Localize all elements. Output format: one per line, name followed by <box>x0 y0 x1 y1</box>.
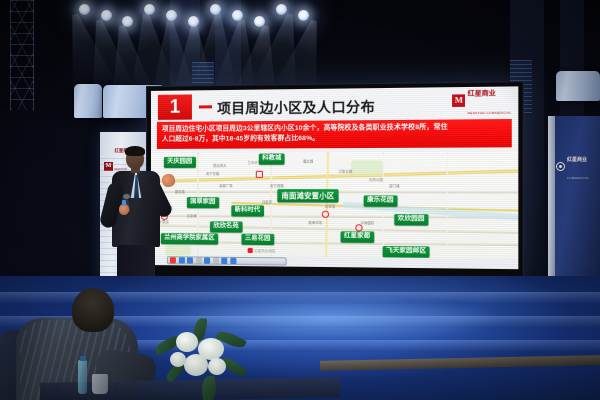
road-vertical-4 <box>447 152 448 259</box>
led-display-screen[interactable]: 1 项目周边小区及人口分布 M 红星商业 REDSTAR COMMERCIAL … <box>146 81 524 283</box>
panel-edge-right <box>548 116 555 278</box>
slide-title: 项目周边小区及人口分布 <box>217 95 375 117</box>
settings-icon[interactable] <box>230 258 236 264</box>
map-street-label: 安宁东路 <box>206 171 219 176</box>
browser-icon[interactable] <box>204 258 210 264</box>
slide-number-badge: 1 <box>158 94 192 119</box>
presentation-slide: 1 项目周边小区及人口分布 M 红星商业 REDSTAR COMMERCIAL … <box>151 86 518 269</box>
map-street-label: 费家营 <box>325 204 335 209</box>
title-dash-decoration <box>199 105 212 108</box>
slide-brand-logo: M 红星商业 REDSTAR COMMERCIAL <box>452 93 511 107</box>
slide-brand-name: 红星商业 <box>468 89 496 97</box>
presenter-hair <box>125 146 145 156</box>
presenter-right-hand <box>160 172 176 188</box>
brand-side-panel-right: 红星商业 COMMERCIAL <box>548 116 600 278</box>
brand-name-right: 红星商业 <box>567 157 587 163</box>
map-street-label: 中海国际 <box>361 220 375 225</box>
brand-ring-icon <box>556 162 565 171</box>
desktop-taskbar[interactable] <box>167 256 287 265</box>
map-community-label[interactable]: 欢欣园园 <box>394 214 428 226</box>
map-street-label: 桃海市场 <box>308 220 322 225</box>
lighting-truss <box>10 0 34 110</box>
map-community-label[interactable]: 南面滩安置小区 <box>277 189 338 202</box>
blank-icon[interactable] <box>213 258 219 264</box>
podium-left-a <box>74 84 102 118</box>
map-watermark: 红星商业地图 <box>248 248 275 253</box>
presenter-speaker <box>98 142 182 288</box>
microphone-head-icon <box>123 194 130 199</box>
map-street-label: 安宁西路 <box>270 183 284 188</box>
conference-stage-photo: M 红星商业 REDSTAR COMMERCIAL 1 项目周边小区及人口分布 … <box>0 0 600 400</box>
stage-light-icon <box>79 4 90 15</box>
flower-bloom <box>170 352 186 367</box>
map-poi-marker[interactable] <box>322 211 329 218</box>
music-icon[interactable] <box>187 257 193 263</box>
paper-cup <box>92 374 108 394</box>
map-watermark-text: 红星商业地图 <box>254 248 275 253</box>
green-space-1 <box>351 160 383 174</box>
map-street-label: 孔家崖 <box>187 213 197 218</box>
stage-light-icon <box>101 10 112 21</box>
flower-bloom <box>176 332 198 352</box>
map-street-label: 万新北路 <box>339 169 353 174</box>
map-community-label[interactable]: 三易花园 <box>242 234 274 245</box>
flower-bloom <box>184 354 208 376</box>
map-community-label[interactable]: 飞天家园邮区 <box>383 246 430 258</box>
map-street-label: 刘家堡 <box>262 199 272 204</box>
map-poi-marker[interactable] <box>355 224 362 231</box>
slide-highlight-banner: 项目周边住宅小区项目周边3公里辖区内小区10余个，高等院校及各类职业技术学校8所… <box>157 119 512 149</box>
stage-light-icon <box>298 10 309 21</box>
folder-icon[interactable] <box>195 258 201 264</box>
map-street-label: 长风公园 <box>369 177 383 182</box>
map-community-label[interactable]: 新科时代 <box>231 205 263 216</box>
map-community-labels-layer: 天庆园园科教城南面滩安置小区国翠家园康乐花园新科时代欣欣名苑欢欣园园兰州商学院家… <box>151 152 518 153</box>
watermark-mark-icon <box>248 248 253 253</box>
map-street-label: 迎门滩 <box>389 183 399 188</box>
map-street-label: 培黎广场 <box>219 183 232 188</box>
map-street-label: 西北师大 <box>213 163 226 168</box>
water-bottle <box>78 360 87 394</box>
neighborhood-map[interactable]: 兰州大学雁北路安宁东路万新北路培黎广场安宁西路银安路刘家堡费家营西北师大长风公园… <box>151 152 518 259</box>
map-community-label[interactable]: 欣欣名苑 <box>210 221 242 232</box>
map-community-label[interactable]: 康乐花园 <box>364 195 397 206</box>
presenter-badge <box>122 200 126 206</box>
flower-bloom <box>208 358 226 375</box>
foliage-leaf <box>201 375 218 400</box>
map-community-label[interactable]: 红星家都 <box>341 231 374 243</box>
map-minor-labels-layer: 兰州大学雁北路安宁东路万新北路培黎广场安宁西路银安路刘家堡费家营西北师大长风公园… <box>151 152 518 153</box>
stage-light-icon <box>276 4 287 15</box>
banner-line-2: 人口超过6-8万，其中18-45岁的有效客群占比68%。 <box>162 133 506 145</box>
bottle-cap <box>80 356 86 361</box>
map-community-label[interactable]: 国翠家园 <box>187 197 219 208</box>
brand-mark-icon: M <box>452 94 465 107</box>
map-poi-marker[interactable] <box>256 171 263 178</box>
podium-right <box>556 71 600 101</box>
brand-logo-right: 红星商业 COMMERCIAL <box>556 148 590 184</box>
map-community-label[interactable]: 科教城 <box>259 153 285 164</box>
map-street-label: 雁北路 <box>303 158 313 163</box>
media-icon[interactable] <box>221 258 227 264</box>
brand-sub-right: COMMERCIAL <box>567 177 590 180</box>
flower-arrangement <box>150 318 262 400</box>
slide-header: 1 项目周边小区及人口分布 M 红星商业 REDSTAR COMMERCIAL <box>151 86 518 121</box>
slide-brand-sub: REDSTAR COMMERCIAL <box>468 110 512 115</box>
audience-member-head <box>72 288 114 332</box>
